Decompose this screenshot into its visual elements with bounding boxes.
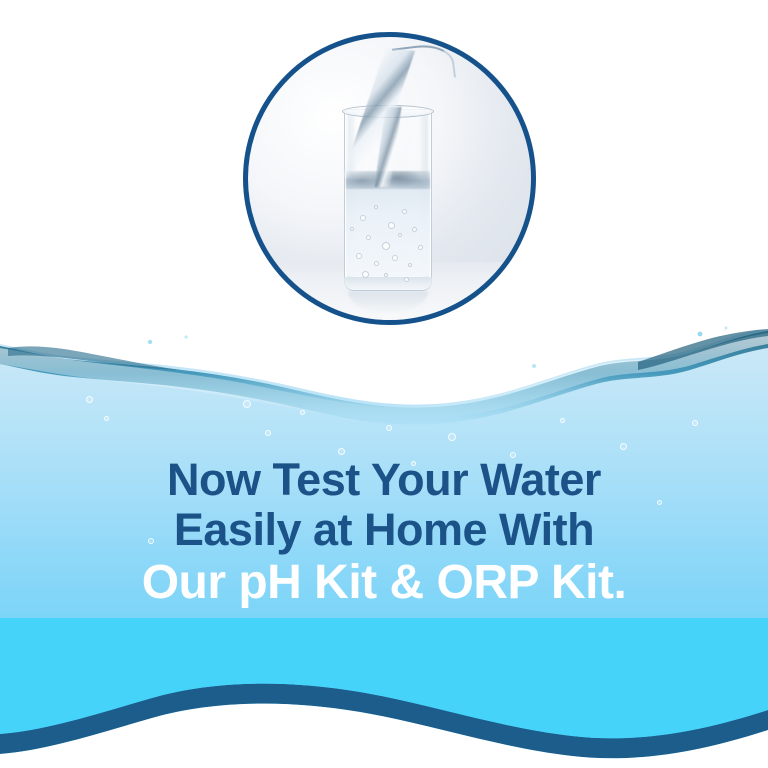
headline-line-1: Now Test Your Water <box>0 455 768 505</box>
bubble <box>350 227 354 231</box>
water-bubble <box>265 430 271 436</box>
bubble <box>408 263 412 267</box>
bottom-wave-decoration <box>0 618 768 768</box>
water-bubble <box>692 420 698 426</box>
water-bubble <box>448 433 456 441</box>
water-bubble <box>300 410 305 415</box>
bubble <box>382 242 390 250</box>
bubble <box>366 235 371 240</box>
bubble <box>388 222 395 229</box>
glass-base <box>344 277 432 291</box>
bubble <box>374 205 378 209</box>
glass-water-fill <box>346 179 430 277</box>
water-bubble <box>243 400 251 408</box>
bubble <box>418 245 423 250</box>
headline-line-3: Our pH Kit & ORP Kit. <box>0 556 768 610</box>
bubble <box>362 271 369 278</box>
bubble <box>398 233 402 237</box>
bubble <box>404 277 409 282</box>
headline: Now Test Your Water Easily at Home With … <box>0 455 768 610</box>
hero-image-circle <box>243 32 536 325</box>
promo-banner: Now Test Your Water Easily at Home With … <box>0 0 768 768</box>
bubble <box>402 209 407 214</box>
water-bubble <box>620 443 627 450</box>
water-bubble <box>560 418 565 423</box>
water-bubble <box>386 425 392 431</box>
bubble <box>384 273 388 277</box>
bubble <box>412 227 417 232</box>
water-bubble <box>104 416 109 421</box>
bubble <box>360 215 366 221</box>
bubble <box>356 253 362 259</box>
water-bubble <box>86 396 93 403</box>
hero-image <box>248 37 531 320</box>
bubble <box>392 255 398 261</box>
headline-line-2: Easily at Home With <box>0 505 768 555</box>
bubble <box>374 261 379 266</box>
